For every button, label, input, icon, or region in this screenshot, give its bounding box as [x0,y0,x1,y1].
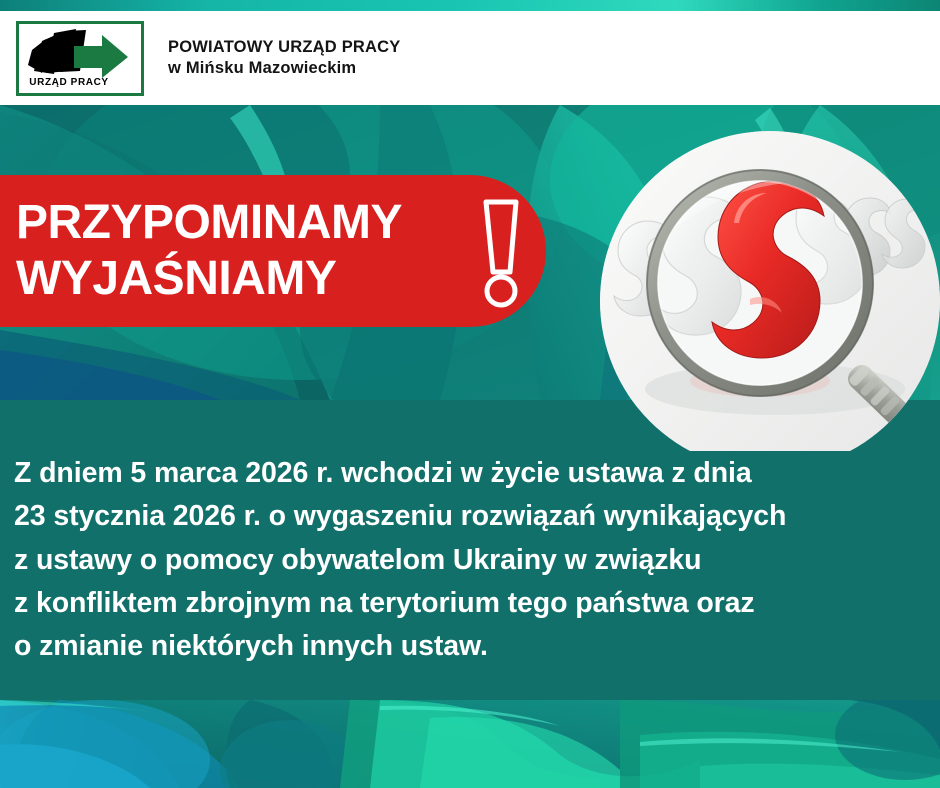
poster-root: URZĄD PRACY POWIATOWY URZĄD PRACY w Mińs… [0,0,940,788]
page-title: POWIATOWY URZĄD PRACY [168,37,400,58]
magnifying-glass-paragraph-icon [600,131,940,451]
exclamation-mark-icon [470,196,532,313]
banner-line-1: PRZYPOMINAMY [16,195,402,251]
page-subtitle: w Mińsku Mazowieckim [168,58,400,79]
urzad-pracy-logo: URZĄD PRACY [16,21,144,96]
announcement-line: z konfliktem zbrojnym na terytorium tego… [14,582,930,625]
banner-line-2: WYJAŚNIAMY [16,251,402,307]
banner-titles: PRZYPOMINAMY WYJAŚNIAMY [16,195,402,307]
announcement-banner: PRZYPOMINAMY WYJAŚNIAMY [0,175,546,327]
announcement-line: o zmianie niektórych innych ustaw. [14,625,930,668]
announcement-text: Z dniem 5 marca 2026 r. wchodzi w życie … [14,452,930,669]
announcement-line: Z dniem 5 marca 2026 r. wchodzi w życie … [14,452,930,495]
announcement-line: 23 stycznia 2026 r. o wygaszeniu rozwiąz… [14,495,930,538]
header-title-block: POWIATOWY URZĄD PRACY w Mińsku Mazowieck… [168,37,400,79]
top-accent-strip [0,0,940,11]
logo-caption: URZĄD PRACY [29,77,108,88]
illustration-photo [600,131,940,451]
urzad-pracy-logo-icon: URZĄD PRACY [24,27,136,89]
header-bar: URZĄD PRACY POWIATOWY URZĄD PRACY w Mińs… [0,11,940,105]
announcement-line: z ustawy o pomocy obywatelom Ukrainy w z… [14,539,930,582]
